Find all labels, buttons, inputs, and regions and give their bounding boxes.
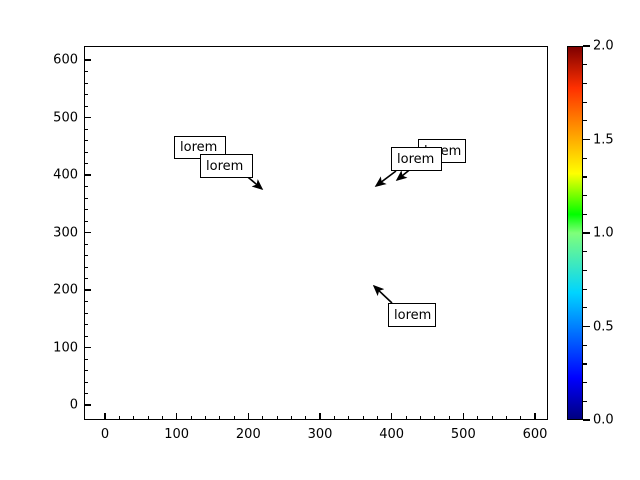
x-axis-minor-tick	[477, 416, 478, 420]
y-axis-minor-tick	[84, 336, 88, 337]
colorbar-tick	[583, 45, 590, 46]
x-axis-tick	[319, 413, 320, 420]
x-axis-tick-label: 0	[101, 427, 109, 442]
x-axis-minor-tick	[506, 416, 507, 420]
y-axis-minor-tick	[84, 106, 88, 107]
y-axis-minor-tick	[84, 393, 88, 394]
y-axis-minor-tick	[84, 129, 88, 130]
y-axis-minor-tick	[84, 71, 88, 72]
y-axis-tick	[84, 347, 91, 348]
y-axis-tick	[84, 289, 91, 290]
colorbar-minor-tick	[583, 401, 587, 402]
y-axis-minor-tick	[84, 370, 88, 371]
y-axis-tick-label: 200	[38, 283, 78, 298]
colorbar-minor-tick	[583, 214, 587, 215]
x-axis-minor-tick	[191, 416, 192, 420]
y-axis-minor-tick	[84, 163, 88, 164]
y-axis-minor-tick	[84, 186, 88, 187]
x-axis-tick-label: 400	[379, 427, 404, 442]
colorbar-tick-label: 1.0	[593, 226, 614, 241]
colorbar-minor-tick	[583, 382, 587, 383]
colorbar-tick-label: 2.0	[593, 39, 614, 54]
x-axis-minor-tick	[348, 416, 349, 420]
axes-frame	[84, 46, 548, 420]
y-axis-tick-label: 500	[38, 110, 78, 125]
x-axis-minor-tick	[520, 416, 521, 420]
colorbar-minor-tick	[583, 64, 587, 65]
x-axis-tick	[248, 413, 249, 420]
colorbar-tick-label: 0.0	[593, 413, 614, 428]
colorbar-minor-tick	[583, 120, 587, 121]
colorbar-tick	[583, 232, 590, 233]
x-axis-minor-tick	[219, 416, 220, 420]
x-axis-tick	[463, 413, 464, 420]
y-axis-minor-tick	[84, 140, 88, 141]
colorbar-tick	[583, 139, 590, 140]
y-axis-tick	[84, 174, 91, 175]
colorbar-minor-tick	[583, 251, 587, 252]
y-axis-tick	[84, 232, 91, 233]
x-axis-tick	[104, 413, 105, 420]
y-axis-minor-tick	[84, 278, 88, 279]
colorbar-minor-tick	[583, 307, 587, 308]
colorbar-minor-tick	[583, 158, 587, 159]
x-axis-tick-label: 300	[308, 427, 333, 442]
colorbar-minor-tick	[583, 289, 587, 290]
y-axis-minor-tick	[84, 313, 88, 314]
x-axis-minor-tick	[133, 416, 134, 420]
colorbar-minor-tick	[583, 270, 587, 271]
y-axis-tick-label: 400	[38, 168, 78, 183]
y-axis-minor-tick	[84, 209, 88, 210]
annotation-right-front[interactable]: lorem	[391, 147, 442, 171]
y-axis-tick-label: 600	[38, 53, 78, 68]
x-axis-minor-tick	[492, 416, 493, 420]
x-axis-minor-tick	[434, 416, 435, 420]
annotation-bottom[interactable]: lorem	[388, 303, 436, 327]
y-axis-minor-tick	[84, 198, 88, 199]
y-axis-minor-tick	[84, 152, 88, 153]
x-axis-minor-tick	[420, 416, 421, 420]
annotation-left-front[interactable]: lorem	[200, 154, 253, 178]
x-axis-minor-tick	[148, 416, 149, 420]
colorbar-minor-tick	[583, 102, 587, 103]
colorbar-minor-tick	[583, 176, 587, 177]
x-axis-minor-tick	[262, 416, 263, 420]
colorbar-tick-label: 1.5	[593, 132, 614, 147]
x-axis-minor-tick	[377, 416, 378, 420]
colorbar-tick	[583, 419, 590, 420]
x-axis-minor-tick	[363, 416, 364, 420]
y-axis-minor-tick	[84, 255, 88, 256]
colorbar-minor-tick	[583, 363, 587, 364]
x-axis-minor-tick	[291, 416, 292, 420]
y-axis-minor-tick	[84, 382, 88, 383]
y-axis-minor-tick	[84, 83, 88, 84]
y-axis-tick	[84, 404, 91, 405]
y-axis-tick-label: 300	[38, 225, 78, 240]
x-axis-tick-label: 200	[236, 427, 261, 442]
y-axis-tick-label: 100	[38, 340, 78, 355]
y-axis-minor-tick	[84, 324, 88, 325]
y-axis-minor-tick	[84, 267, 88, 268]
x-axis-minor-tick	[119, 416, 120, 420]
colorbar-tick-label: 0.5	[593, 319, 614, 334]
y-axis-minor-tick	[84, 359, 88, 360]
x-axis-minor-tick	[234, 416, 235, 420]
colorbar	[567, 46, 583, 420]
y-axis-minor-tick	[84, 94, 88, 95]
y-axis-minor-tick	[84, 221, 88, 222]
colorbar-minor-tick	[583, 345, 587, 346]
x-axis-tick-label: 500	[451, 427, 476, 442]
x-axis-minor-tick	[305, 416, 306, 420]
colorbar-tick	[583, 326, 590, 327]
x-axis-minor-tick	[205, 416, 206, 420]
colorbar-gradient	[567, 46, 583, 420]
x-axis-minor-tick	[449, 416, 450, 420]
x-axis-tick-label: 600	[523, 427, 548, 442]
x-axis-tick	[534, 413, 535, 420]
x-axis-minor-tick	[162, 416, 163, 420]
x-axis-tick	[391, 413, 392, 420]
y-axis-tick-label: 0	[38, 398, 78, 413]
y-axis-tick	[84, 59, 91, 60]
y-axis-tick	[84, 117, 91, 118]
x-axis-minor-tick	[277, 416, 278, 420]
y-axis-minor-tick	[84, 244, 88, 245]
y-axis-minor-tick	[84, 301, 88, 302]
figure-canvas: 01002003004005006000100200300400500600 0…	[0, 0, 640, 480]
colorbar-minor-tick	[583, 195, 587, 196]
colorbar-minor-tick	[583, 83, 587, 84]
x-axis-tick-label: 100	[164, 427, 189, 442]
x-axis-minor-tick	[406, 416, 407, 420]
x-axis-tick	[176, 413, 177, 420]
x-axis-minor-tick	[334, 416, 335, 420]
